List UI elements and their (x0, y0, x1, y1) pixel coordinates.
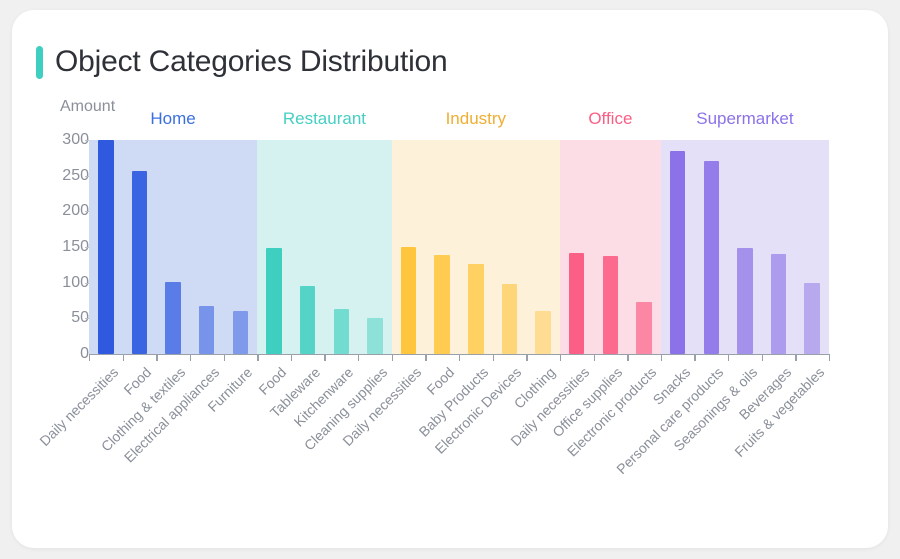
bar[interactable] (266, 248, 281, 354)
x-tick-mark (291, 354, 292, 361)
x-tick-mark (829, 354, 830, 361)
bar[interactable] (603, 256, 618, 354)
y-tick-label: 50 (49, 309, 89, 327)
bar[interactable] (737, 248, 752, 354)
x-tick-mark (190, 354, 191, 361)
bar[interactable] (771, 254, 786, 354)
bar[interactable] (704, 161, 719, 354)
bar-chart: Amount 050100150200250300 HomeRestaurant… (12, 10, 888, 548)
bar[interactable] (434, 255, 449, 354)
bar[interactable] (670, 151, 685, 354)
x-tick-mark (324, 354, 325, 361)
chart-card: Object Categories Distribution Amount 05… (12, 10, 888, 548)
bar[interactable] (502, 284, 517, 354)
bar[interactable] (199, 306, 214, 354)
y-tick-label: 250 (49, 167, 89, 185)
bar[interactable] (334, 309, 349, 354)
y-tick-label: 100 (49, 274, 89, 292)
bar[interactable] (804, 283, 819, 354)
group-label-industry: Industry (392, 109, 560, 129)
bar[interactable] (300, 286, 315, 354)
x-tick-mark (694, 354, 695, 361)
x-tick-mark (594, 354, 595, 361)
y-tick-label: 300 (49, 131, 89, 149)
x-tick-mark (123, 354, 124, 361)
y-tick-label: 0 (49, 345, 89, 363)
x-tick-mark (795, 354, 796, 361)
bar[interactable] (569, 253, 584, 354)
bar[interactable] (468, 264, 483, 354)
group-label-office: Office (560, 109, 661, 129)
y-tick-label: 150 (49, 238, 89, 256)
x-tick-mark (627, 354, 628, 361)
x-tick-mark (156, 354, 157, 361)
x-tick-mark (728, 354, 729, 361)
x-tick-mark (661, 354, 662, 361)
bar[interactable] (401, 247, 416, 354)
x-tick-mark (459, 354, 460, 361)
bar[interactable] (233, 311, 248, 355)
bar[interactable] (98, 140, 113, 354)
bar[interactable] (132, 171, 147, 354)
plot-area: HomeRestaurantIndustryOfficeSupermarket (89, 140, 829, 354)
bar[interactable] (535, 311, 550, 355)
bar[interactable] (367, 318, 382, 354)
y-tick-label: 200 (49, 202, 89, 220)
group-label-restaurant: Restaurant (257, 109, 392, 129)
x-tick-mark (358, 354, 359, 361)
bar[interactable] (165, 282, 180, 354)
x-tick-mark (425, 354, 426, 361)
x-tick-mark (762, 354, 763, 361)
x-tick-mark (257, 354, 258, 361)
x-tick-mark (224, 354, 225, 361)
bar[interactable] (636, 302, 651, 354)
y-axis-ticks: 050100150200250300 (44, 140, 89, 354)
x-tick-mark (560, 354, 561, 361)
x-tick-mark (89, 354, 90, 361)
group-label-home: Home (89, 109, 257, 129)
x-tick-mark (392, 354, 393, 361)
x-tick-mark (526, 354, 527, 361)
group-label-supermarket: Supermarket (661, 109, 829, 129)
x-tick-mark (493, 354, 494, 361)
